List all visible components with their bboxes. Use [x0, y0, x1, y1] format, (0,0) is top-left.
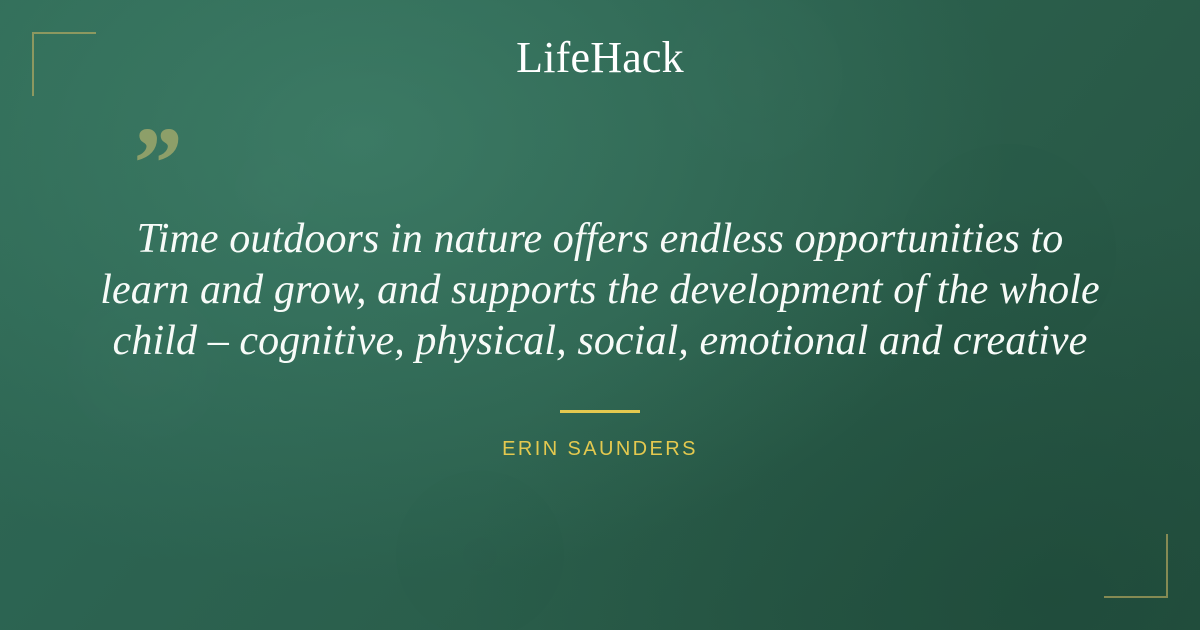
quotation-mark-icon: ”	[128, 112, 180, 216]
brand-logo: LifeHack	[0, 36, 1200, 80]
quote-card: LifeHack ” Time outdoors in nature offer…	[0, 0, 1200, 630]
quote-text: Time outdoors in nature offers endless o…	[96, 214, 1104, 367]
author-name: ERIN SAUNDERS	[0, 438, 1200, 461]
quote-line: Time outdoors in nature offers endless o…	[96, 214, 1104, 265]
corner-bracket-bottom-right-icon	[1104, 534, 1168, 598]
quote-line: child – cognitive, physical, social, emo…	[96, 316, 1104, 367]
attribution-divider	[560, 410, 640, 413]
quote-line: learn and grow, and supports the develop…	[96, 265, 1104, 316]
